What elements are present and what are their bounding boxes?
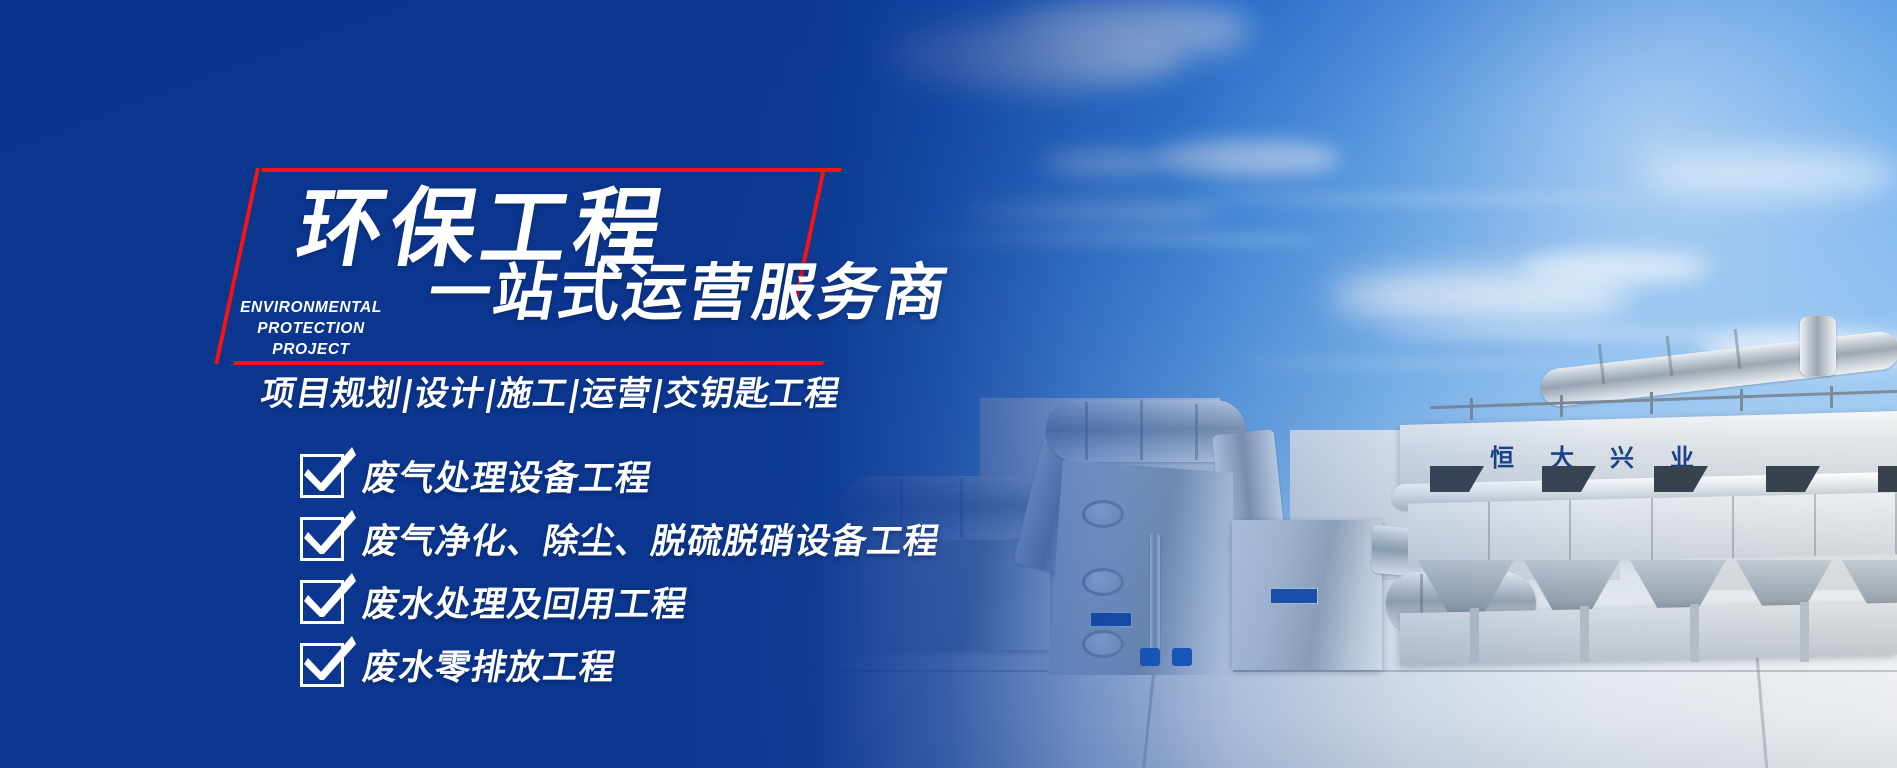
services-strip: 项目规划|设计|施工|运营|交钥匙工程	[258, 366, 845, 415]
service-checklist: 废气处理设备工程 废气净化、除尘、脱硫脱硝设备工程 废水处理及回用工程	[300, 448, 940, 700]
english-subtitle-line1: ENVIRONMENTAL PROTECTION	[196, 298, 426, 340]
english-subtitle: ENVIRONMENTAL PROTECTION PROJECT	[196, 298, 426, 361]
checklist-item: 废气处理设备工程	[300, 448, 940, 503]
checklist-item-label: 废气处理设备工程	[360, 450, 657, 501]
checkbox-checked-icon	[300, 517, 344, 561]
frame-bottom-line	[233, 361, 824, 365]
checkbox-checked-icon	[300, 643, 344, 687]
headline-secondary: 一站式运营服务商	[422, 242, 958, 332]
check-mark-icon	[304, 508, 356, 554]
checklist-item: 废水处理及回用工程	[300, 574, 940, 629]
check-mark-icon	[304, 634, 356, 680]
check-mark-icon	[304, 571, 356, 617]
checklist-item: 废水零排放工程	[300, 637, 940, 692]
english-subtitle-line2: PROJECT	[196, 340, 426, 361]
check-mark-icon	[304, 445, 356, 491]
hero-banner: 恒 大 兴 业	[0, 0, 1897, 768]
checklist-item-label: 废水处理及回用工程	[360, 576, 693, 627]
checklist-item-label: 废气净化、除尘、脱硫脱硝设备工程	[360, 513, 945, 564]
checkbox-checked-icon	[300, 454, 344, 498]
banner-content: 环保工程 一站式运营服务商 ENVIRONMENTAL PROTECTION P…	[0, 0, 1897, 768]
checklist-item-label: 废水零排放工程	[360, 639, 621, 690]
checklist-item: 废气净化、除尘、脱硫脱硝设备工程	[300, 511, 940, 566]
checkbox-checked-icon	[300, 580, 344, 624]
